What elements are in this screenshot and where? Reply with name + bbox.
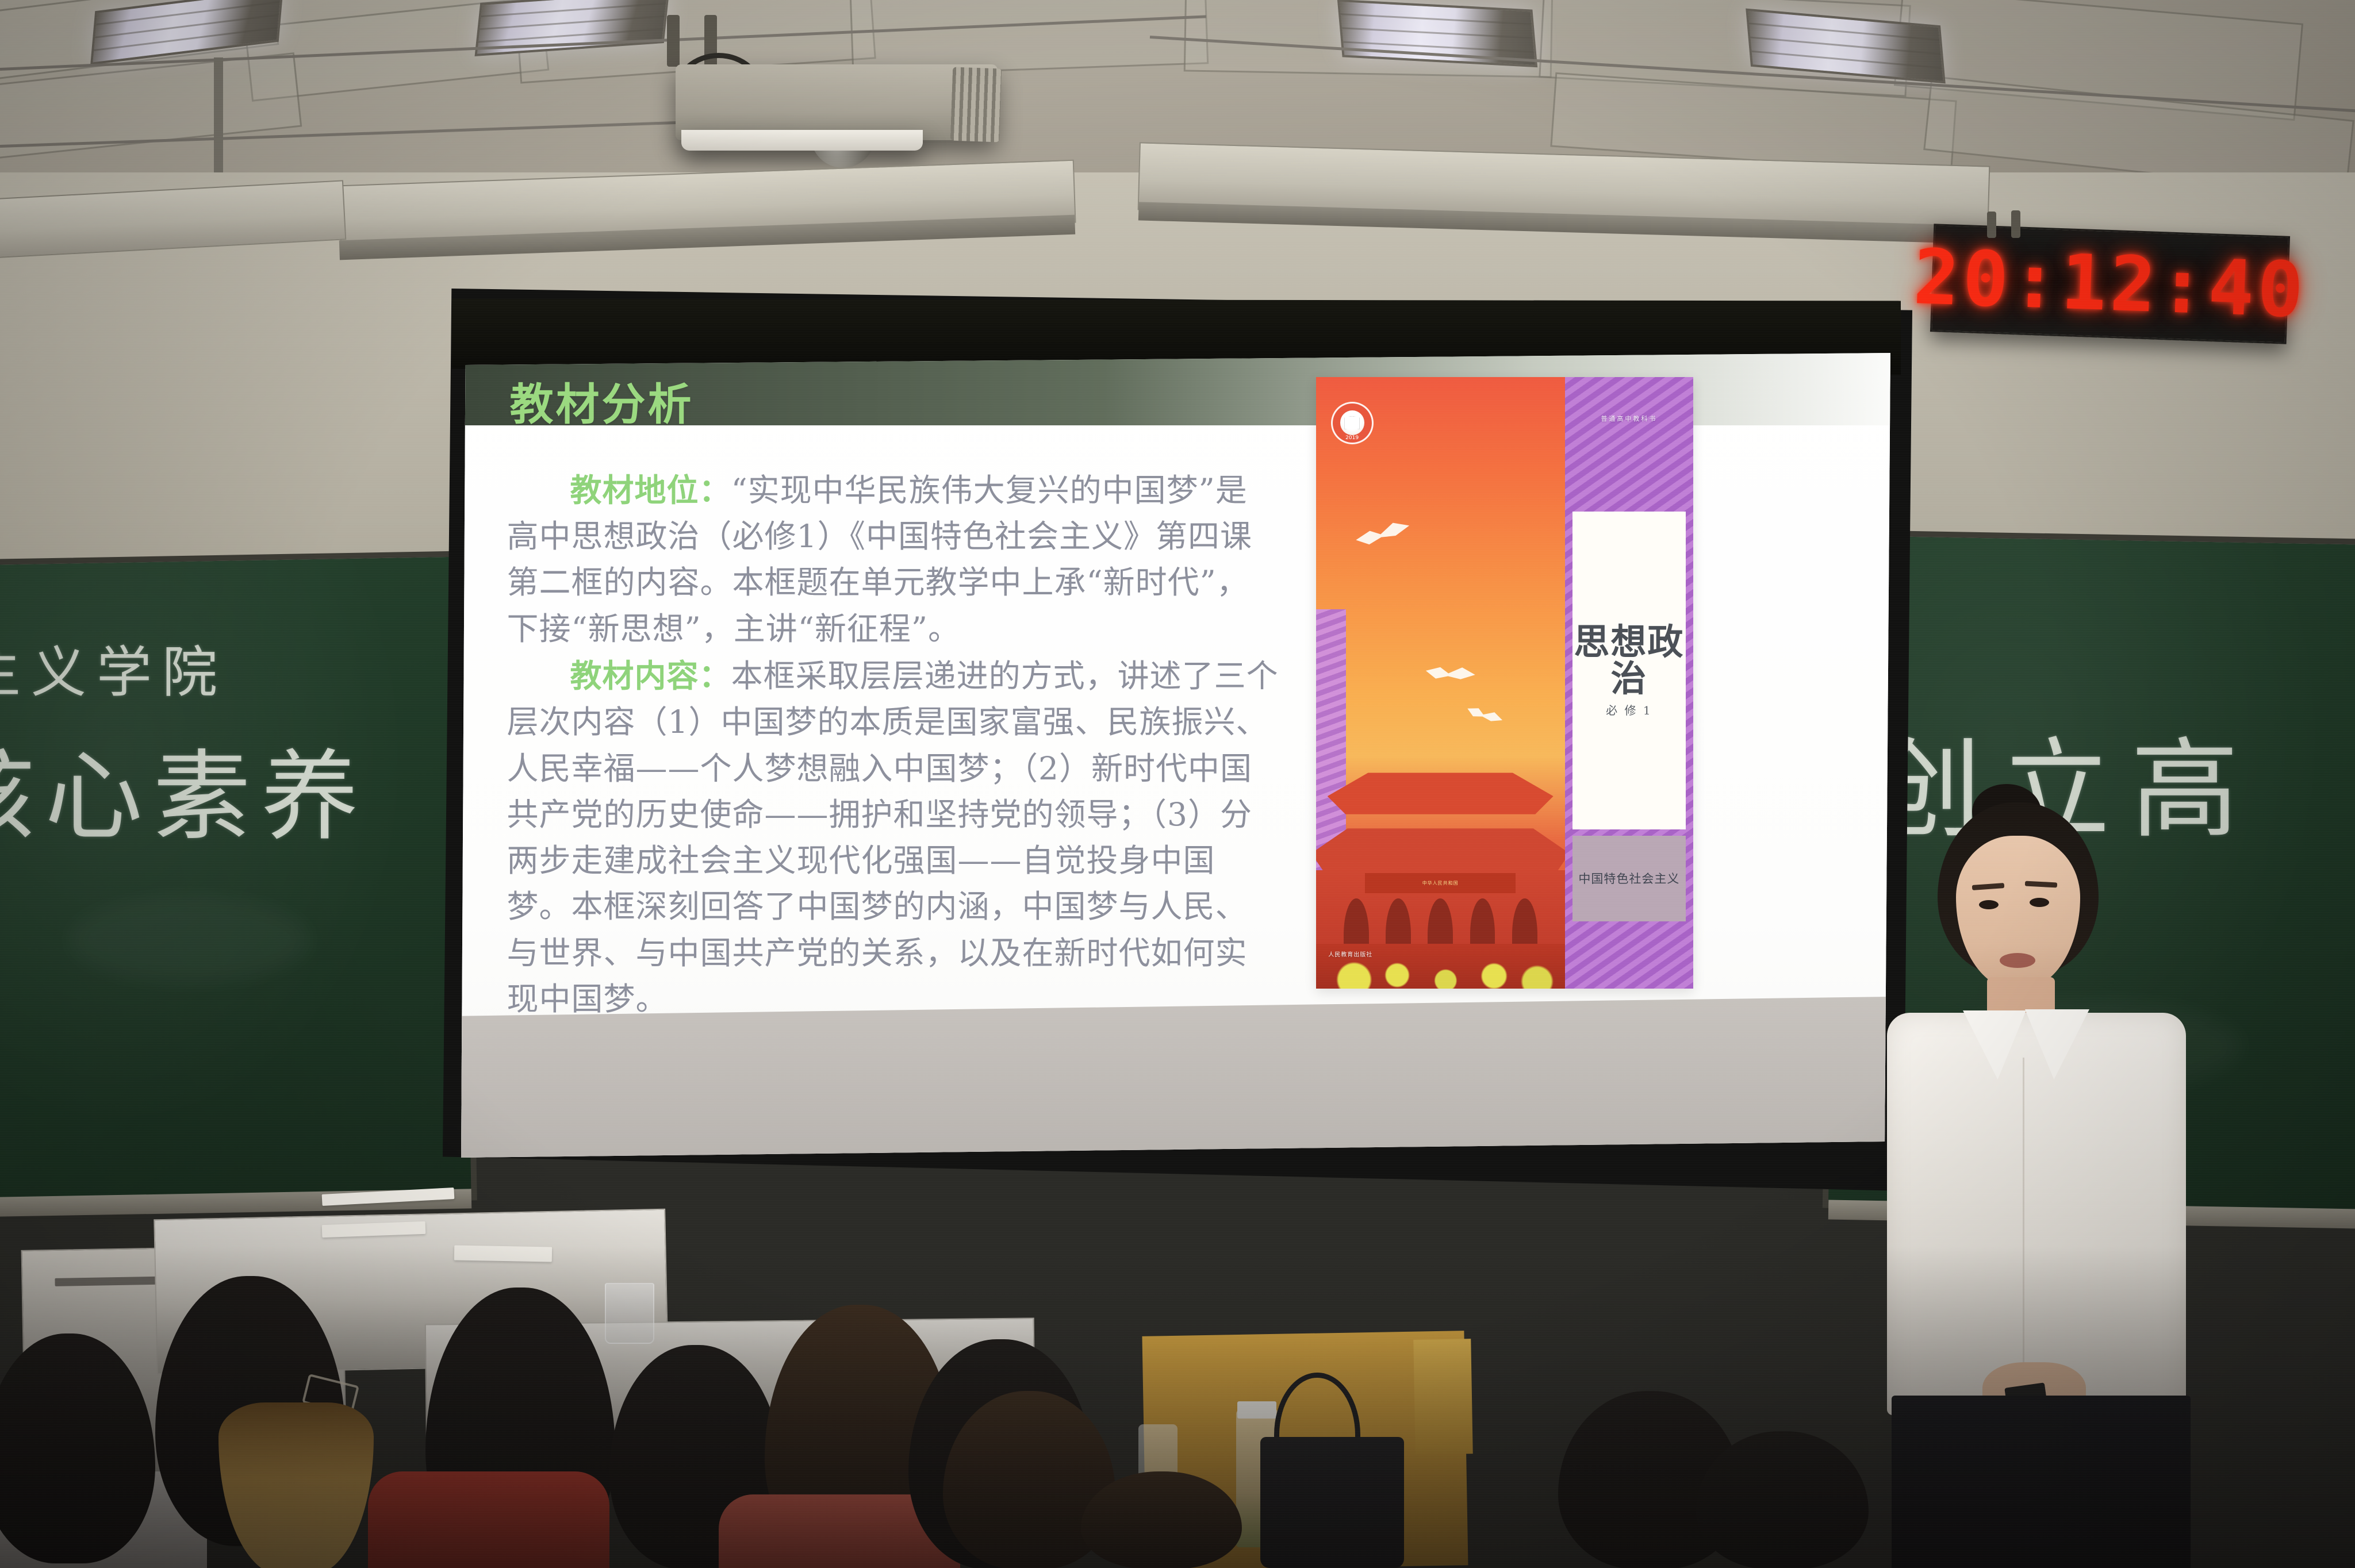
dove-icon bbox=[1424, 661, 1476, 691]
handbag bbox=[1260, 1437, 1404, 1568]
seal-year-label: 2019 bbox=[1333, 435, 1372, 441]
wooden-desk-edge bbox=[1413, 1339, 1472, 1455]
paragraph-label-position: 教材地位： bbox=[570, 471, 731, 509]
projector-base bbox=[681, 130, 923, 151]
projector bbox=[676, 64, 998, 140]
textbook-cover-front-art: 2019 中华人民共和国 bbox=[1316, 377, 1565, 989]
textbook-volume: 必 修 1 bbox=[1606, 701, 1652, 718]
led-wall-clock: 20:12:40 bbox=[1930, 224, 2290, 344]
presentation-slide: 教材分析 教材地位：“实现中华民族伟大复兴的中国梦”是高中思想政治（必修1）《中… bbox=[461, 353, 1890, 1158]
projector-vent bbox=[950, 67, 1002, 143]
seal-inner bbox=[1340, 410, 1364, 435]
slide-title: 教材分析 bbox=[510, 369, 694, 432]
presenter-mouth bbox=[2000, 953, 2035, 968]
clock-time: 20:12:40 bbox=[1912, 233, 2308, 335]
paragraph-text-content: 本框采取层层递进的方式，讲述了三个层次内容（1）中国梦的本质是国家富强、民族振兴… bbox=[507, 658, 1279, 1017]
tiananmen-illustration: 中华人民共和国 bbox=[1316, 708, 1565, 989]
chalk-text-core-literacy: 核心素养 bbox=[0, 717, 369, 859]
paragraph-label-content: 教材内容： bbox=[570, 657, 731, 694]
paper-sheet bbox=[454, 1246, 552, 1262]
textbook-title: 思想政治 bbox=[1572, 624, 1685, 698]
textbook-approval-seal-icon: 2019 bbox=[1331, 402, 1374, 444]
projection-screen-surface: 教材分析 教材地位：“实现中华民族伟大复兴的中国梦”是高中思想政治（必修1）《中… bbox=[461, 353, 1890, 1158]
audience-shoulders bbox=[368, 1471, 609, 1568]
gate-roof-upper bbox=[1328, 769, 1554, 814]
slide-lower-spill bbox=[461, 997, 1890, 1158]
textbook-title-box: 思想政治 必 修 1 bbox=[1572, 512, 1685, 829]
presenter-skirt bbox=[1892, 1396, 2191, 1568]
chalk-text-institute: 主义学院 bbox=[0, 628, 228, 708]
gate-roof-lower bbox=[1316, 825, 1565, 876]
presenter-eye bbox=[1979, 900, 1999, 909]
projector-mount bbox=[667, 15, 680, 67]
open-book-icon bbox=[1344, 416, 1360, 430]
slide-paragraph: 教材地位：“实现中华民族伟大复兴的中国梦”是高中思想政治（必修1）《中国特色社会… bbox=[507, 467, 1279, 652]
presenter-shirt bbox=[1887, 1013, 2186, 1415]
classroom-photo: 20:12:40 主义学院 核心素养 创立高 教材分析 教材地位：“实现中华民族… bbox=[0, 0, 2355, 1568]
presenter-shirt-placket bbox=[2023, 1058, 2024, 1379]
textbook-cover-spine-panel: 普通高中教科书 思想政治 必 修 1 中国特色社会主义 bbox=[1565, 377, 1693, 989]
presenter-eye bbox=[2030, 898, 2049, 907]
slide-body-text: 教材地位：“实现中华民族伟大复兴的中国梦”是高中思想政治（必修1）《中国特色社会… bbox=[507, 467, 1279, 1024]
clock-bracket bbox=[1987, 212, 1996, 238]
textbook-subtitle-box: 中国特色社会主义 bbox=[1572, 836, 1685, 921]
textbook-series-label: 普通高中教科书 bbox=[1565, 414, 1693, 423]
clock-bracket bbox=[2011, 210, 2020, 238]
chalk-dust bbox=[69, 897, 310, 983]
plastic-cup bbox=[605, 1283, 654, 1344]
slide-paragraph: 教材内容：本框采取层层递进的方式，讲述了三个层次内容（1）中国梦的本质是国家富强… bbox=[507, 653, 1279, 1022]
audience-head-blonde bbox=[218, 1402, 374, 1568]
dove-icon bbox=[1353, 518, 1413, 555]
textbook-subtitle: 中国特色社会主义 bbox=[1578, 870, 1679, 887]
gate-banner-text: 中华人民共和国 bbox=[1365, 873, 1516, 893]
presenter bbox=[1857, 787, 2260, 1568]
textbook-cover-image: 2019 中华人民共和国 bbox=[1316, 377, 1693, 989]
bottle-cap bbox=[1237, 1401, 1276, 1419]
publisher-name: 人民教育出版社 bbox=[1328, 950, 1372, 958]
